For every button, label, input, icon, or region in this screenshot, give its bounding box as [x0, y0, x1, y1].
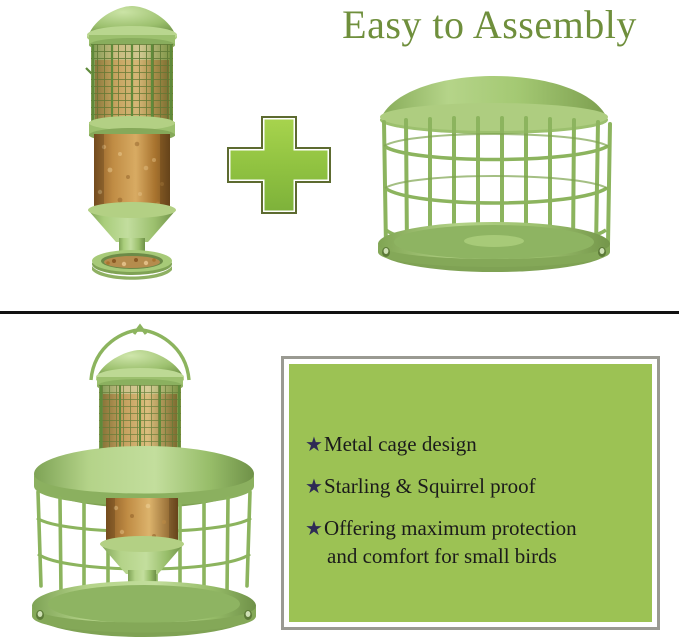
features-panel-inner: ★Metal cage design ★Starling & Squirrel …: [289, 364, 652, 622]
feature-text: Metal cage design: [324, 432, 477, 456]
feature-item: ★Offering maximum protection and comfort…: [301, 515, 640, 570]
section-divider: [0, 311, 679, 314]
feature-text-line2: and comfort for small birds: [305, 543, 640, 570]
star-icon: ★: [305, 434, 323, 456]
feature-item: ★Metal cage design: [301, 431, 640, 459]
features-panel: ★Metal cage design ★Starling & Squirrel …: [281, 356, 660, 630]
feature-text: Offering maximum protection: [324, 516, 577, 540]
seed-feeder-tube-image: [62, 2, 202, 290]
feature-text: Starling & Squirrel proof: [324, 474, 536, 498]
assembled-feeder-image: [18, 322, 270, 640]
plus-sign-icon: [224, 113, 334, 217]
page-title: Easy to Assembly: [300, 2, 679, 48]
feature-item: ★Starling & Squirrel proof: [301, 473, 640, 501]
metal-guard-cage-image: [370, 72, 618, 288]
product-infographic: Easy to Assembly: [0, 0, 679, 642]
star-icon: ★: [305, 476, 323, 498]
star-icon: ★: [305, 518, 323, 540]
